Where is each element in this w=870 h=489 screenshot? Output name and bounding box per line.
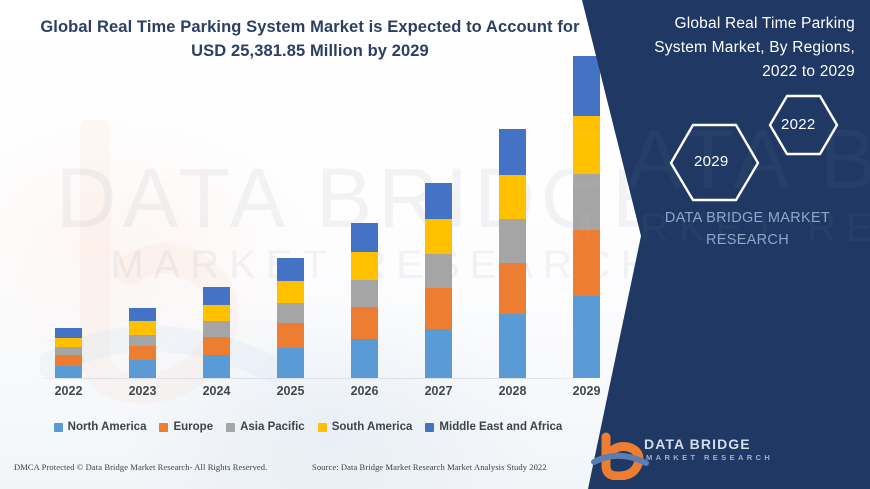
brand-name: DATA BRIDGE MARKET RESEARCH	[640, 208, 855, 252]
legend-swatch-icon	[425, 423, 434, 432]
bar-segment-south-america	[351, 252, 378, 280]
bar-segment-asia-pacific	[425, 254, 452, 288]
legend-label: Asia Pacific	[240, 421, 305, 433]
bar-segment-south-america	[425, 219, 452, 254]
bar-segment-middle-east-and-africa	[277, 258, 304, 281]
bar-segment-asia-pacific	[351, 280, 378, 307]
x-axis-label-2026: 2026	[335, 384, 395, 398]
x-axis-label-2028: 2028	[483, 384, 543, 398]
bar-segment-north-america	[499, 314, 526, 378]
bar-segment-middle-east-and-africa	[129, 308, 156, 321]
bar-segment-south-america	[203, 305, 230, 321]
bar-segment-asia-pacific	[277, 303, 304, 324]
bar-segment-asia-pacific	[129, 335, 156, 346]
bar-segment-middle-east-and-africa	[55, 328, 82, 338]
source-note: Source: Data Bridge Market Research Mark…	[312, 462, 582, 472]
bar-2023	[129, 308, 156, 378]
footer-logo-title: DATA BRIDGE	[644, 436, 751, 452]
legend-swatch-icon	[318, 423, 327, 432]
bar-2029	[573, 56, 600, 378]
bar-segment-north-america	[573, 296, 600, 378]
bar-segment-europe	[351, 307, 378, 339]
bar-2028	[499, 129, 526, 378]
legend-swatch-icon	[54, 423, 63, 432]
legend-label: South America	[332, 421, 413, 433]
dmca-notice: DMCA Protected © Data Bridge Market Rese…	[14, 462, 304, 472]
legend-item-middle-east-and-africa[interactable]: Middle East and Africa	[425, 421, 562, 433]
x-axis-label-2022: 2022	[39, 384, 99, 398]
footer-logo-subtitle: MARKET RESEARCH	[646, 453, 773, 462]
bar-segment-middle-east-and-africa	[499, 129, 526, 175]
bar-segment-north-america	[55, 366, 82, 378]
bar-segment-europe	[425, 288, 452, 328]
x-axis-label-2025: 2025	[261, 384, 321, 398]
x-axis-label-2029: 2029	[557, 384, 617, 398]
bar-segment-asia-pacific	[55, 347, 82, 355]
chart-legend: North AmericaEuropeAsia PacificSouth Ame…	[30, 414, 586, 440]
legend-label: North America	[68, 421, 147, 433]
bar-segment-south-america	[277, 281, 304, 303]
x-axis-label-2023: 2023	[113, 384, 173, 398]
bar-segment-middle-east-and-africa	[573, 56, 600, 116]
bar-segment-north-america	[203, 355, 230, 378]
hexagon-label-2022: 2022	[781, 116, 816, 133]
bar-segment-europe	[499, 263, 526, 315]
legend-item-europe[interactable]: Europe	[159, 421, 213, 433]
chart-plot-area	[30, 110, 600, 378]
bar-2026	[351, 223, 378, 378]
bar-segment-asia-pacific	[499, 219, 526, 262]
bar-2022	[55, 328, 82, 379]
right-panel-title: Global Real Time Parking System Market, …	[640, 12, 855, 84]
bar-segment-asia-pacific	[573, 174, 600, 230]
bar-segment-north-america	[425, 329, 452, 378]
bar-segment-europe	[277, 323, 304, 348]
bar-segment-north-america	[129, 360, 156, 378]
bar-segment-south-america	[499, 175, 526, 219]
legend-swatch-icon	[226, 423, 235, 432]
hexagon-shapes	[665, 92, 855, 202]
hexagon-label-2029: 2029	[694, 153, 729, 170]
legend-label: Middle East and Africa	[439, 421, 562, 433]
bar-segment-middle-east-and-africa	[203, 287, 230, 305]
bar-2025	[277, 258, 304, 378]
infographic-canvas: DATA BRIDGE MARKET RESEARCH Global Real …	[0, 0, 870, 489]
bar-segment-middle-east-and-africa	[351, 223, 378, 252]
x-axis-label-2024: 2024	[187, 384, 247, 398]
legend-item-asia-pacific[interactable]: Asia Pacific	[226, 421, 305, 433]
bar-segment-europe	[55, 355, 82, 365]
bar-segment-asia-pacific	[203, 321, 230, 336]
bar-segment-south-america	[573, 116, 600, 174]
legend-label: Europe	[173, 421, 213, 433]
bar-segment-north-america	[351, 339, 378, 378]
legend-item-south-america[interactable]: South America	[318, 421, 413, 433]
chart-axis-line	[30, 378, 586, 379]
bar-segment-south-america	[55, 338, 82, 347]
stacked-bar-chart: 20222023202420252026202720282029	[0, 0, 620, 400]
bar-segment-europe	[129, 346, 156, 360]
bar-segment-middle-east-and-africa	[425, 183, 452, 219]
bar-segment-north-america	[277, 348, 304, 378]
legend-swatch-icon	[159, 423, 168, 432]
bar-2027	[425, 183, 452, 378]
x-axis-label-2027: 2027	[409, 384, 469, 398]
bar-2024	[203, 287, 230, 378]
legend-item-north-america[interactable]: North America	[54, 421, 147, 433]
bar-segment-europe	[573, 230, 600, 296]
chart-x-axis-labels: 20222023202420252026202720282029	[30, 384, 600, 406]
hexagon-group: 2022 2029	[665, 92, 855, 202]
bar-segment-south-america	[129, 321, 156, 334]
bar-segment-europe	[203, 337, 230, 356]
